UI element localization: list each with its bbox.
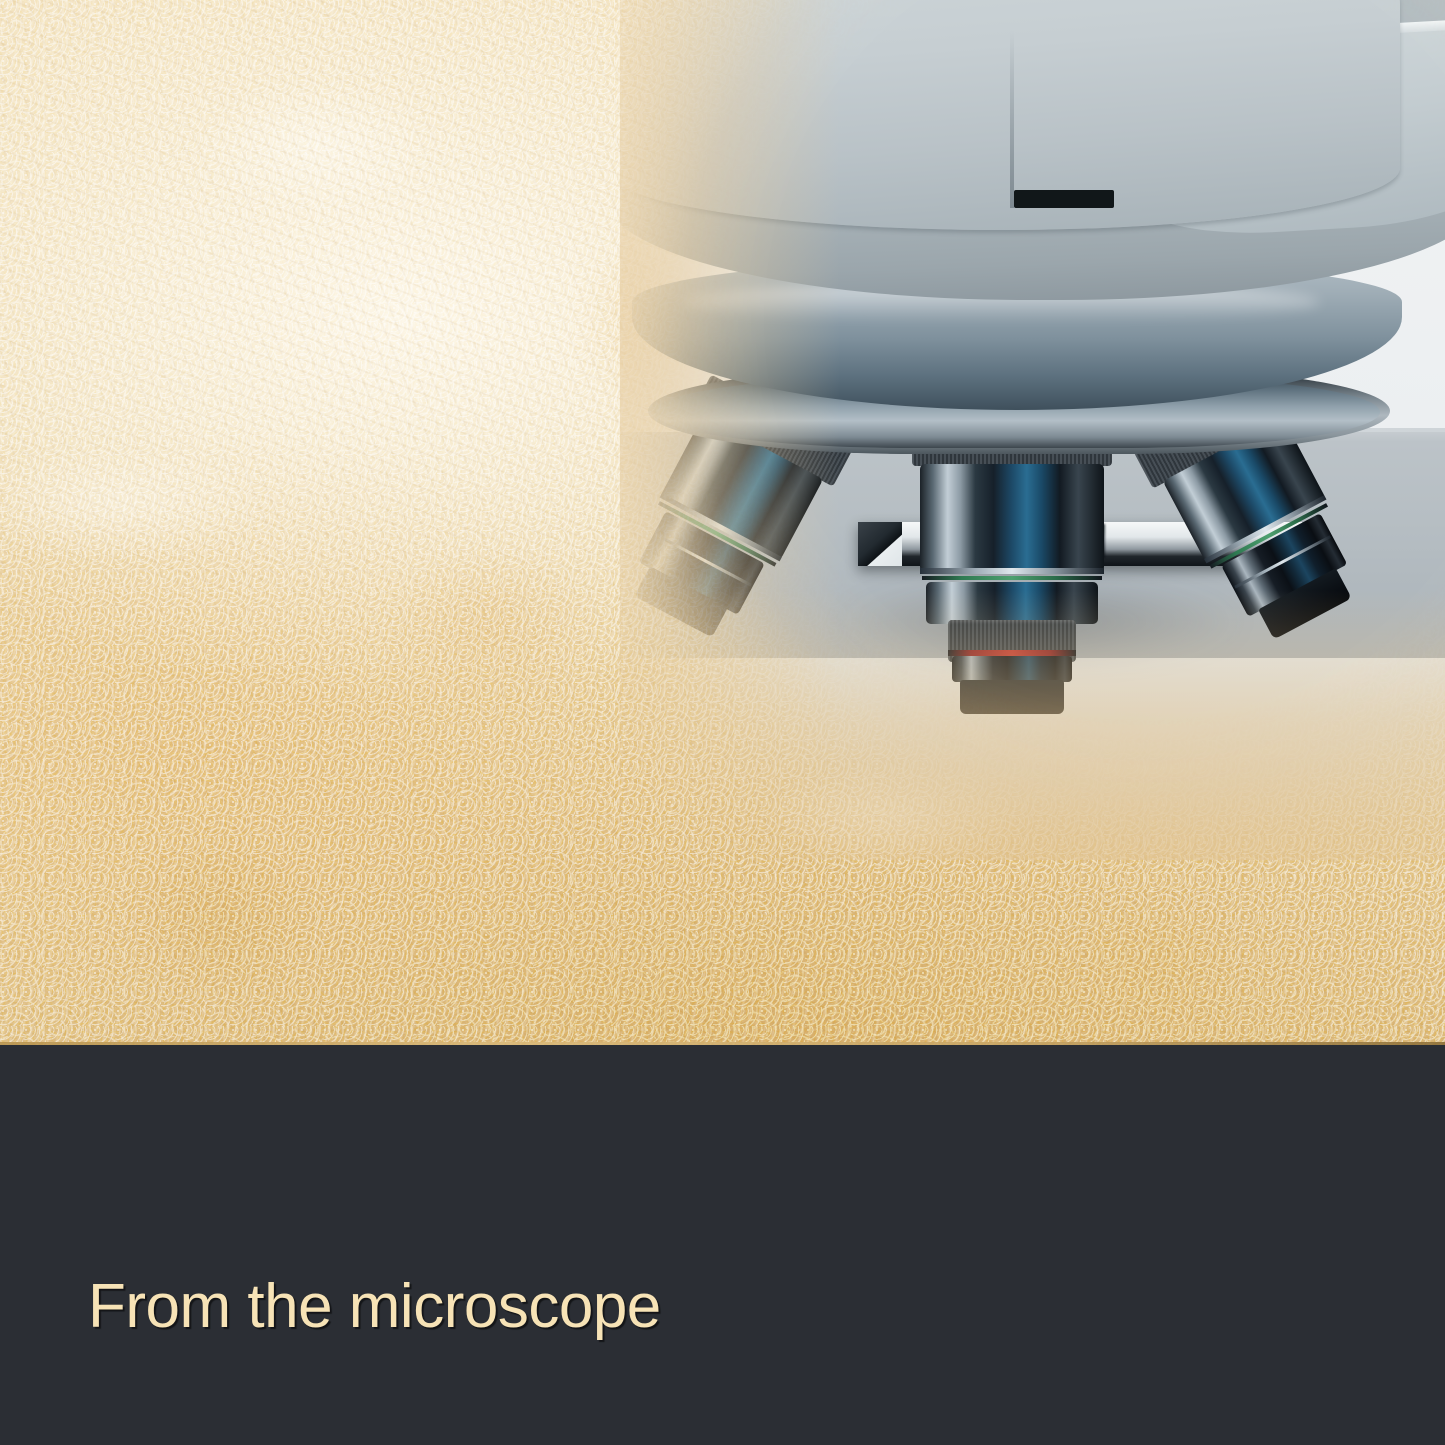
product-marketing-image: From the microscope we see the filter ha… <box>0 0 1445 1445</box>
photo-left-fade <box>620 0 840 860</box>
microscope-head-notch <box>1014 190 1114 208</box>
caption-line-1: From the microscope <box>88 1270 1388 1344</box>
glass-slide-left-bevel <box>858 522 902 566</box>
caption-text-block: From the microscope we see the filter ha… <box>88 1122 1388 1445</box>
microscope-head-seam <box>1010 30 1014 208</box>
microscope-photo <box>620 0 1445 860</box>
